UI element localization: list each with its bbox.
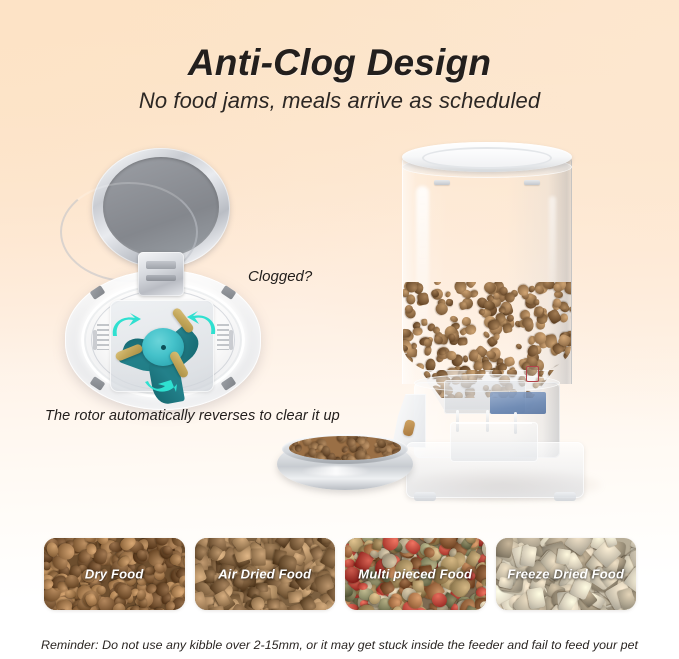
hopper-clip	[524, 180, 540, 185]
body-vent-grill	[97, 324, 109, 350]
food-type-label: Dry Food	[44, 567, 185, 582]
blue-module-panel	[490, 392, 546, 414]
reverse-rotation-arrow-icon	[109, 312, 143, 342]
hopper-kibble-fill	[403, 282, 571, 380]
feeder-base	[406, 442, 584, 498]
body-vent-slot	[93, 330, 97, 350]
pet-feeder-product	[398, 142, 594, 502]
food-type-card[interactable]: Dry Food	[44, 538, 185, 610]
reverse-rotation-arrow-icon	[143, 374, 179, 400]
rotor-blade-icon	[117, 306, 209, 388]
food-type-label: Freeze Dried Food	[496, 567, 637, 582]
rotor-caption: The rotor automatically reverses to clea…	[45, 408, 340, 424]
food-type-label: Multi pieced Food	[345, 567, 486, 582]
base-foot	[554, 492, 576, 501]
product-infographic: Anti-Clog Design No food jams, meals arr…	[0, 0, 679, 659]
page-subtitle: No food jams, meals arrive as scheduled	[0, 88, 679, 114]
bowl-highlight	[301, 466, 371, 476]
hopper-clip	[434, 180, 450, 185]
dispenser-inner-module	[444, 380, 526, 414]
clogged-annotation: Clogged?	[248, 268, 312, 285]
hinge-slot	[146, 261, 176, 269]
red-clip-detail	[526, 366, 539, 382]
food-type-card-list: Dry Food Air Dried Food Multi pieced Foo…	[44, 538, 636, 610]
base-rail	[450, 422, 538, 462]
clogged-rotor-illustration	[58, 148, 268, 413]
stainless-food-bowl	[277, 432, 413, 494]
base-foot	[414, 492, 436, 501]
body-vent-slot	[229, 330, 233, 350]
lid-hinge	[138, 252, 184, 296]
lid-inner-ring	[422, 147, 552, 169]
body-tab	[221, 285, 237, 300]
feeder-lid	[402, 142, 572, 172]
food-type-label: Air Dried Food	[195, 567, 336, 582]
body-tab	[90, 285, 106, 300]
page-title: Anti-Clog Design	[0, 42, 679, 84]
bowl-kibble-fill	[289, 436, 401, 460]
food-type-card[interactable]: Freeze Dried Food	[496, 538, 637, 610]
rotor-center-dot	[161, 345, 166, 350]
reminder-note: Reminder: Do not use any kibble over 2-1…	[0, 638, 679, 652]
hinge-slot	[146, 275, 176, 281]
food-type-card[interactable]: Multi pieced Food	[345, 538, 486, 610]
food-type-card[interactable]: Air Dried Food	[195, 538, 336, 610]
reverse-rotation-arrow-icon	[185, 310, 219, 340]
